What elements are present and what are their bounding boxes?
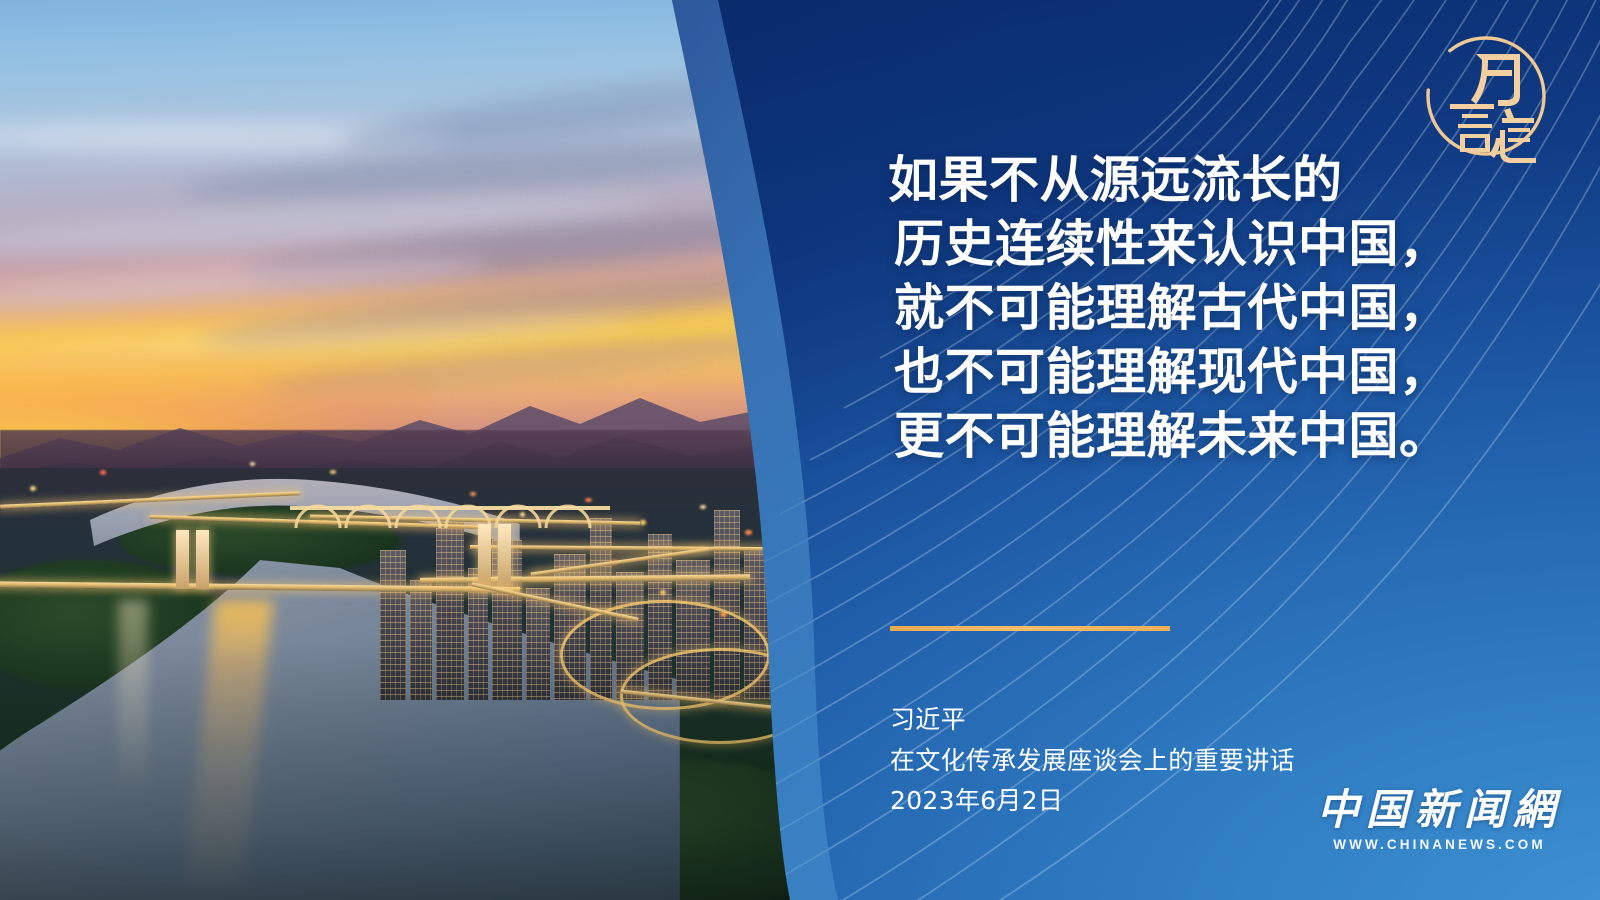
- bridge-pylon: [176, 530, 189, 588]
- bridge-pylon: [498, 524, 511, 586]
- quote-line-2: 历史连续性来认识中国，: [888, 212, 1538, 276]
- quote-line-3: 就不可能理解古代中国，: [888, 276, 1538, 340]
- quote-line-5: 更不可能理解未来中国。: [888, 404, 1538, 468]
- occasion-text: 在文化传承发展座谈会上的重要讲话: [890, 741, 1295, 782]
- photo-vignette: [0, 640, 820, 900]
- chinanews-name: 中国新闻網: [1317, 788, 1562, 832]
- attribution-block: 习近平 在文化传承发展座谈会上的重要讲话 2023年6月2日: [890, 700, 1295, 822]
- quote-text: 如果不从源远流长的 历史连续性来认识中国， 就不可能理解古代中国， 也不可能理解…: [888, 148, 1538, 468]
- arch-bridge: [290, 498, 610, 548]
- bridge-pylon: [196, 530, 209, 588]
- xi-yan-dao-seal-logo: [1416, 26, 1556, 166]
- poster: 如果不从源远流长的 历史连续性来认识中国， 就不可能理解古代中国， 也不可能理解…: [0, 0, 1600, 900]
- gold-divider: [890, 626, 1170, 631]
- city-river-sunset-photo: [0, 0, 820, 900]
- chinanews-url: WWW.CHINANEWS.COM: [1317, 837, 1562, 852]
- speaker-name: 习近平: [890, 700, 1295, 741]
- quote-line-4: 也不可能理解现代中国，: [888, 340, 1538, 404]
- speech-date: 2023年6月2日: [890, 781, 1295, 822]
- chinanews-logo: 中国新闻網 WWW.CHINANEWS.COM: [1317, 788, 1562, 852]
- bridge-pylon: [478, 524, 491, 586]
